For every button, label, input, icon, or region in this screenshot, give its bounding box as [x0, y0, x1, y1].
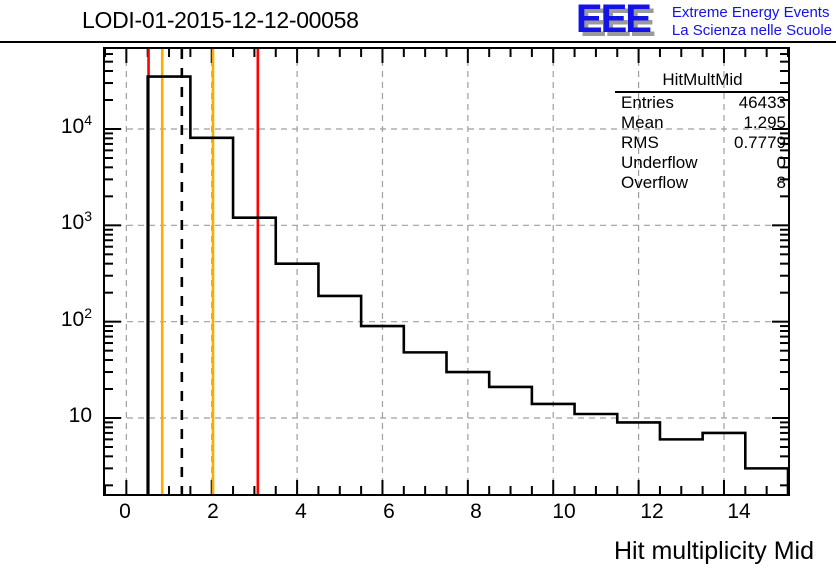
stats-key-rms: RMS: [621, 133, 659, 153]
stats-row-underflow: Underflow 0: [615, 153, 790, 173]
x-tick-label-6: 6: [383, 500, 395, 524]
stats-key-mean: Mean: [621, 113, 664, 133]
stats-key-entries: Entries: [621, 93, 674, 113]
marker-lines: [149, 49, 258, 494]
eee-logo-caption: Extreme Energy Events La Scienza nelle S…: [672, 2, 832, 40]
stats-key-underflow: Underflow: [621, 153, 698, 173]
stats-value-overflow: 8: [777, 173, 786, 193]
page-title: LODI-01-2015-12-12-00058: [82, 7, 359, 34]
stats-box: HitMultMid Entries 46433 Mean 1.295 RMS …: [615, 70, 790, 193]
stats-title: HitMultMid: [615, 70, 790, 93]
x-tick-label-4: 4: [295, 500, 307, 524]
eee-logo-text: EEE: [576, 0, 650, 39]
eee-logo-line1: Extreme Energy Events: [672, 4, 832, 22]
y-tick-label-10000: 104: [30, 115, 92, 139]
stats-key-overflow: Overflow: [621, 173, 688, 193]
x-tick-label-0: 0: [119, 500, 131, 524]
eee-logo-line2: La Scienza nelle Scuole: [672, 22, 832, 40]
y-tick-label-100: 102: [30, 308, 92, 332]
x-axis-title: Hit multiplicity Mid: [614, 537, 814, 566]
stats-value-rms: 0.7779: [734, 133, 786, 153]
eee-logo: EEE EEE Extreme Energy Events La Scienza…: [576, 2, 832, 41]
stats-value-mean: 1.295: [743, 113, 786, 133]
stats-row-overflow: Overflow 8: [615, 173, 790, 193]
y-tick-label-1000: 103: [30, 211, 92, 235]
stats-value-underflow: 0: [777, 153, 786, 173]
x-tick-label-12: 12: [640, 500, 663, 524]
y-tick-label-10: 10: [30, 404, 92, 428]
plot-canvas: LODI-01-2015-12-12-00058 EEE EEE Extreme…: [0, 0, 836, 572]
x-tick-label-14: 14: [727, 500, 750, 524]
eee-logo-mark: EEE EEE: [576, 3, 666, 41]
stats-row-mean: Mean 1.295: [615, 113, 790, 133]
x-tick-label-10: 10: [552, 500, 575, 524]
x-tick-label-2: 2: [207, 500, 219, 524]
stats-row-entries: Entries 46433: [615, 93, 790, 113]
stats-row-rms: RMS 0.7779: [615, 133, 790, 153]
x-tick-label-8: 8: [470, 500, 482, 524]
header-divider: [0, 41, 836, 43]
stats-value-entries: 46433: [739, 93, 786, 113]
